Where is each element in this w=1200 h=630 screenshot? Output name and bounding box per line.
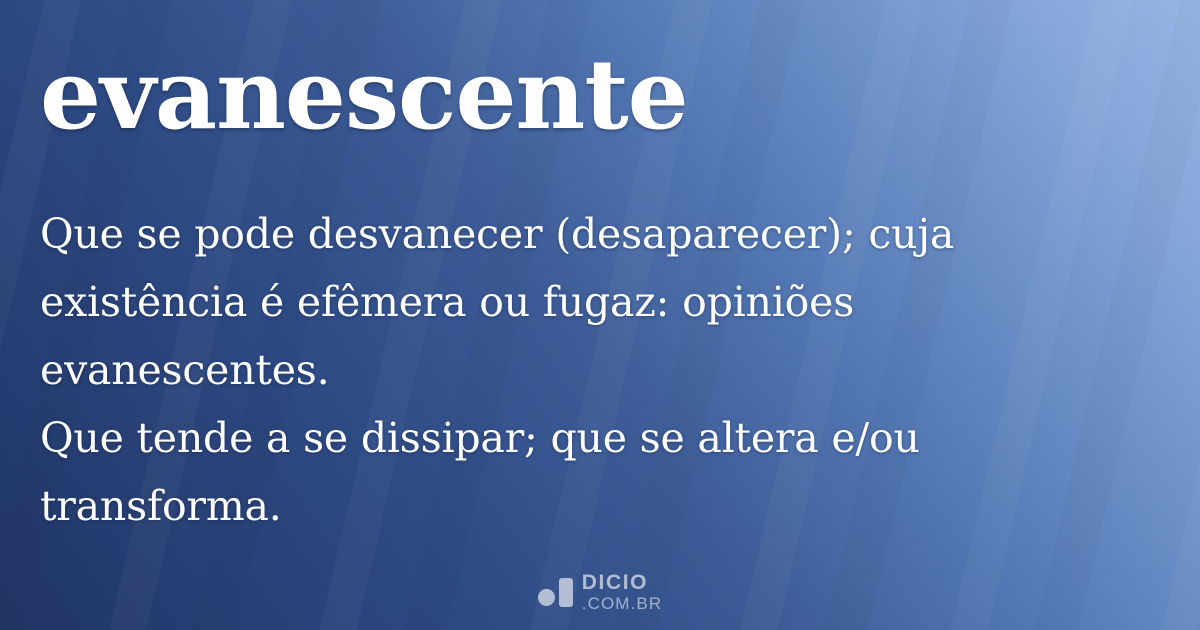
logo-brand-name: DICIO <box>582 572 662 593</box>
headword-title: evanescente <box>40 40 688 150</box>
dicio-logo-mark <box>538 577 573 607</box>
card-content: evanescente Que se pode desvanecer (desa… <box>0 0 1200 630</box>
dicio-logo-text: DICIO .COM.BR <box>582 572 662 612</box>
dicio-logo: DICIO .COM.BR <box>0 572 1200 612</box>
definition-list: Que se pode desvanecer (desaparecer); cu… <box>40 200 1100 540</box>
logo-domain-suffix: .COM.BR <box>582 595 662 612</box>
definition-item: Que se pode desvanecer (desaparecer); cu… <box>40 200 1100 404</box>
definition-card: evanescente Que se pode desvanecer (desa… <box>0 0 1200 630</box>
definition-item: Que tende a se dissipar; que se altera e… <box>40 404 1100 540</box>
rounded-bar-icon <box>559 578 573 607</box>
circle-icon <box>538 589 555 606</box>
